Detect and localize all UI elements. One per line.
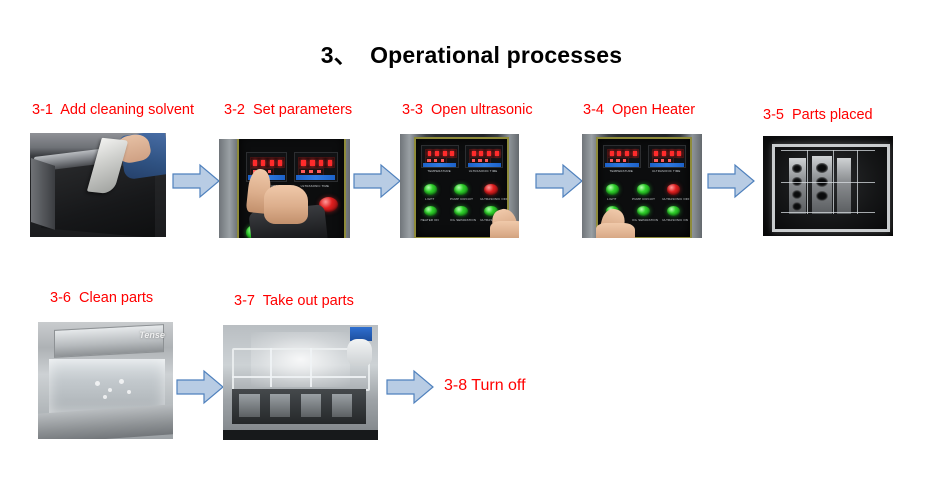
- operator-hand: [490, 221, 519, 238]
- panel-button-oil-separation[interactable]: [454, 206, 468, 217]
- panel-button-heater-on[interactable]: [424, 206, 438, 217]
- panel-caption-oil-separation: OIL SEPARATION: [450, 218, 471, 222]
- temperature-display: [603, 145, 641, 169]
- panel-caption-pump-circuit: PUMP CIRCUIT: [632, 197, 653, 201]
- operator-hand: [264, 185, 309, 225]
- panel-caption-ultrasonic-off: ULTRASONIC OFF: [663, 197, 686, 201]
- ultrasonic-time-caption: ULTRASONIC TIME: [649, 170, 682, 174]
- cleaned-part: [270, 394, 290, 417]
- bubble: [95, 381, 100, 386]
- panel-caption-light: LIGHT: [601, 197, 622, 201]
- ultrasonic-time-caption: ULTRASONIC TIME: [298, 184, 332, 188]
- photo-add-cleaning-solvent: [30, 133, 166, 237]
- panel-button-ultrasonic-off[interactable]: [484, 184, 498, 195]
- basket-rail: [310, 348, 312, 387]
- arrow-right-icon: [353, 163, 401, 199]
- panel-caption-light: LIGHT: [419, 197, 440, 201]
- photo-open-heater: TEMPERATURE ULTRASONIC TIME LIGHT PUMP C…: [582, 134, 702, 238]
- ultrasonic-time-display: [294, 152, 338, 182]
- photo-parts-placed: [763, 136, 893, 236]
- bore-hole: [816, 191, 828, 201]
- step-label-3-7: 3-7 Take out parts: [234, 292, 354, 310]
- arrow-step-4-to-5: [707, 163, 755, 199]
- bubble: [108, 388, 112, 392]
- ultrasonic-time-caption: ULTRASONIC TIME: [467, 170, 500, 174]
- panel-caption-pump-circuit: PUMP CIRCUIT: [450, 197, 471, 201]
- panel-caption-oil-separation: OIL SEPARATION: [632, 218, 653, 222]
- arrow-step-1-to-2: [172, 163, 220, 199]
- photo-clean-parts: Tense: [38, 322, 173, 439]
- bore-hole: [816, 163, 828, 173]
- step-label-3-8: 3-8 Turn off: [444, 377, 526, 395]
- tank-lid: [54, 324, 164, 357]
- step-label-3-5: 3-5 Parts placed: [763, 106, 873, 124]
- bubble: [103, 395, 107, 399]
- step-label-3-6: 3-6 Clean parts: [50, 289, 153, 307]
- arrow-step-6-to-7: [176, 369, 224, 405]
- cleaned-part: [301, 394, 321, 417]
- panel-caption-ultrasonic-off: ULTRASONIC OFF: [480, 197, 503, 201]
- arrow-right-icon: [172, 163, 220, 199]
- panel-button-light[interactable]: [606, 184, 620, 195]
- photo-open-ultrasonic: TEMPERATURE ULTRASONIC TIME LIGHT PUMP C…: [400, 134, 519, 238]
- ultrasonic-time-display: [648, 145, 686, 169]
- step-label-3-2: 3-2 Set parameters: [224, 101, 352, 119]
- arrow-right-icon: [386, 369, 434, 405]
- arrow-right-icon: [707, 163, 755, 199]
- step-label-3-1: 3-1 Add cleaning solvent: [32, 101, 194, 119]
- panel-button-oil-separation[interactable]: [637, 206, 651, 217]
- arrow-right-icon: [176, 369, 224, 405]
- temperature-caption: TEMPERATURE: [423, 170, 454, 174]
- photo-bottom-band: [223, 430, 378, 440]
- bore-hole: [792, 202, 802, 211]
- bubble: [127, 390, 131, 394]
- panel-caption-ultrasonic-on: ULTRASONIC ON: [663, 218, 686, 222]
- operator-hand: [596, 223, 634, 238]
- basket-rail: [270, 348, 272, 387]
- basket-wire: [857, 150, 858, 214]
- tank-left-edge: [31, 158, 55, 230]
- panel-button-light[interactable]: [424, 184, 438, 195]
- photo-set-parameters: TEMPERATURE ULTRASONIC TIME: [219, 139, 350, 238]
- image-watermark: Tense: [139, 330, 165, 340]
- basket-wire: [807, 150, 808, 214]
- bore-hole: [792, 164, 802, 173]
- ultrasonic-time-display: [465, 145, 503, 169]
- slide-canvas: 3、 Operational processes 3-1 Add cleanin…: [0, 0, 943, 489]
- step-label-3-4: 3-4 Open Heater: [583, 101, 695, 119]
- cleaned-part: [239, 394, 261, 417]
- page-title: 3、 Operational processes: [0, 36, 943, 70]
- panel-button-ultrasonic-off[interactable]: [667, 184, 681, 195]
- basket-wire: [781, 212, 875, 213]
- operator-glove: [347, 339, 372, 367]
- photo-take-out-parts: [223, 325, 378, 440]
- basket-wire: [833, 150, 834, 214]
- arrow-step-2-to-3: [353, 163, 401, 199]
- arrow-step-3-to-4: [535, 163, 583, 199]
- panel-button-pump-circuit[interactable]: [637, 184, 651, 195]
- temperature-display: [421, 145, 459, 169]
- basket-wire: [781, 182, 875, 183]
- bore-hole: [792, 190, 802, 199]
- arrow-step-7-to-8: [386, 369, 434, 405]
- temperature-caption: TEMPERATURE: [606, 170, 637, 174]
- basket-wire: [781, 150, 875, 151]
- panel-button-pump-circuit[interactable]: [454, 184, 468, 195]
- basket-rail: [232, 376, 365, 378]
- arrow-right-icon: [535, 163, 583, 199]
- cylinder-head-right: [837, 158, 851, 214]
- step-label-3-3: 3-3 Open ultrasonic: [402, 101, 533, 119]
- panel-button-ultrasonic-on[interactable]: [667, 206, 681, 217]
- panel-caption-heater-on: HEATER ON: [419, 218, 440, 222]
- cleaned-part: [332, 394, 352, 417]
